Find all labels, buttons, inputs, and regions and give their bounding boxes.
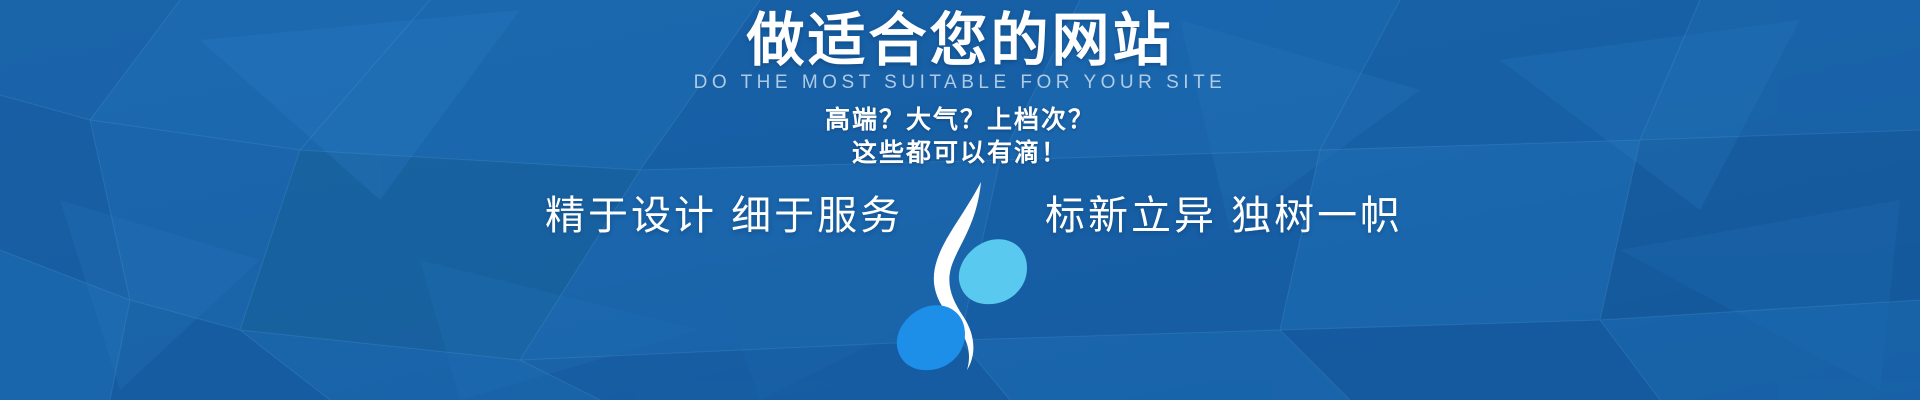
page-title: 做适合您的网站 [0, 8, 1920, 75]
banner-content: 做适合您的网站 DO THE MOST SUITABLE FOR YOUR SI… [0, 0, 1920, 400]
leaf-sprout-logo [885, 178, 1035, 378]
english-subtitle: DO THE MOST SUITABLE FOR YOUR SITE [0, 72, 1920, 94]
slogan-left: 精于设计 细于服务 [545, 178, 875, 242]
tagline-line-2: 这些都可以有滴！ [0, 137, 1920, 170]
slogan-right: 标新立异 独树一帜 [1045, 178, 1375, 242]
tagline-block: 高端？大气？上档次？ 这些都可以有滴！ [0, 104, 1920, 170]
logo-leaf-top-icon [959, 239, 1027, 304]
promo-banner: 做适合您的网站 DO THE MOST SUITABLE FOR YOUR SI… [0, 0, 1920, 400]
logo-leaf-bottom-icon [897, 305, 965, 370]
tagline-line-1: 高端？大气？上档次？ [0, 104, 1920, 137]
logo-container [875, 178, 1045, 378]
slogan-row: 精于设计 细于服务 标新立异 独树一帜 [0, 178, 1920, 388]
